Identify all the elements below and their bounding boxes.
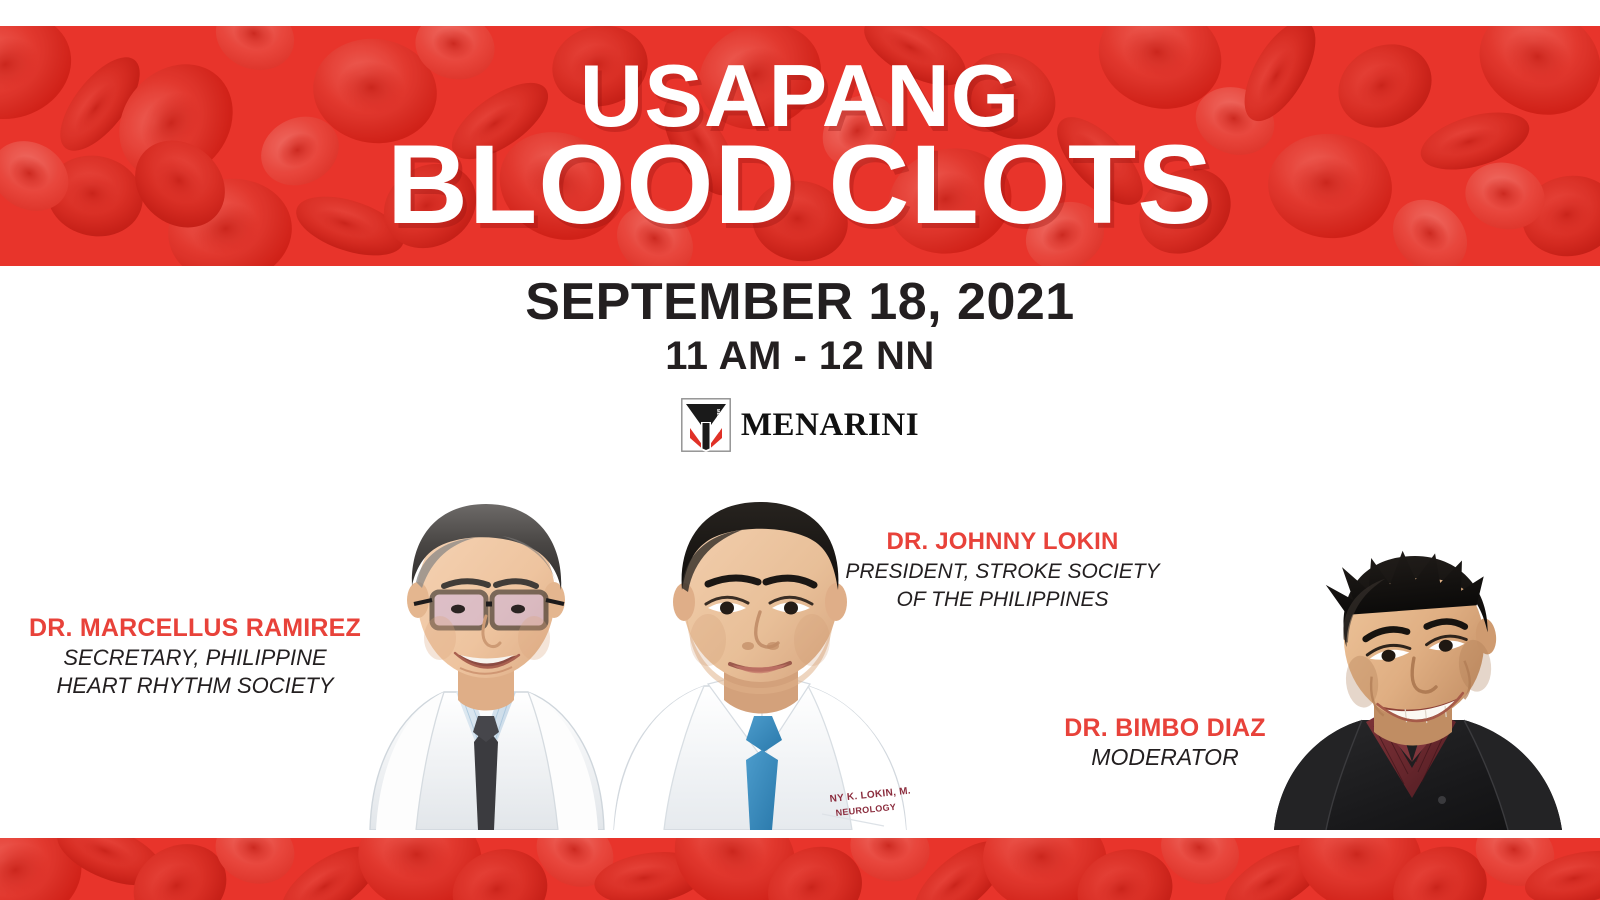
top-red-band <box>0 26 1600 266</box>
speaker-name-diaz: DR. BIMBO DIAZ <box>1015 714 1315 743</box>
speaker-name-lokin: DR. JOHNNY LOKIN <box>845 528 1160 556</box>
speaker-name-ramirez: DR. MARCELLUS RAMIREZ <box>0 614 390 643</box>
speaker-label-diaz: DR. BIMBO DIAZ MODERATOR <box>1015 714 1315 771</box>
speaker-role-ramirez-line2: HEART RHYTHM SOCIETY <box>0 673 390 699</box>
speaker-role-diaz-line1: MODERATOR <box>1015 744 1315 772</box>
event-time: 11 AM - 12 NN <box>0 332 1600 380</box>
speaker-role-lokin-line1: PRESIDENT, STROKE SOCIETY <box>845 559 1160 584</box>
svg-text:MENARINI: MENARINI <box>716 409 721 432</box>
speaker-label-ramirez: DR. MARCELLUS RAMIREZ SECRETARY, PHILIPP… <box>0 614 390 700</box>
speaker-photo-diaz <box>1246 536 1568 830</box>
menarini-logo: MENARINI MENARINI <box>0 398 1600 452</box>
menarini-wordmark: MENARINI <box>741 409 919 442</box>
speaker-photo-ramirez <box>352 470 620 830</box>
event-datetime: SEPTEMBER 18, 2021 11 AM - 12 NN <box>0 275 1600 380</box>
speaker-role-lokin-line2: OF THE PHILIPPINES <box>845 587 1160 612</box>
speaker-role-ramirez-line1: SECRETARY, PHILIPPINE <box>0 645 390 671</box>
webinar-poster: USAPANG BLOOD CLOTS SEPTEMBER 18, 2021 1… <box>0 0 1600 900</box>
event-date: SEPTEMBER 18, 2021 <box>0 275 1600 330</box>
menarini-mark-icon: MENARINI <box>681 398 731 452</box>
bottom-red-band <box>0 838 1600 900</box>
speaker-label-lokin: DR. JOHNNY LOKIN PRESIDENT, STROKE SOCIE… <box>845 528 1160 612</box>
